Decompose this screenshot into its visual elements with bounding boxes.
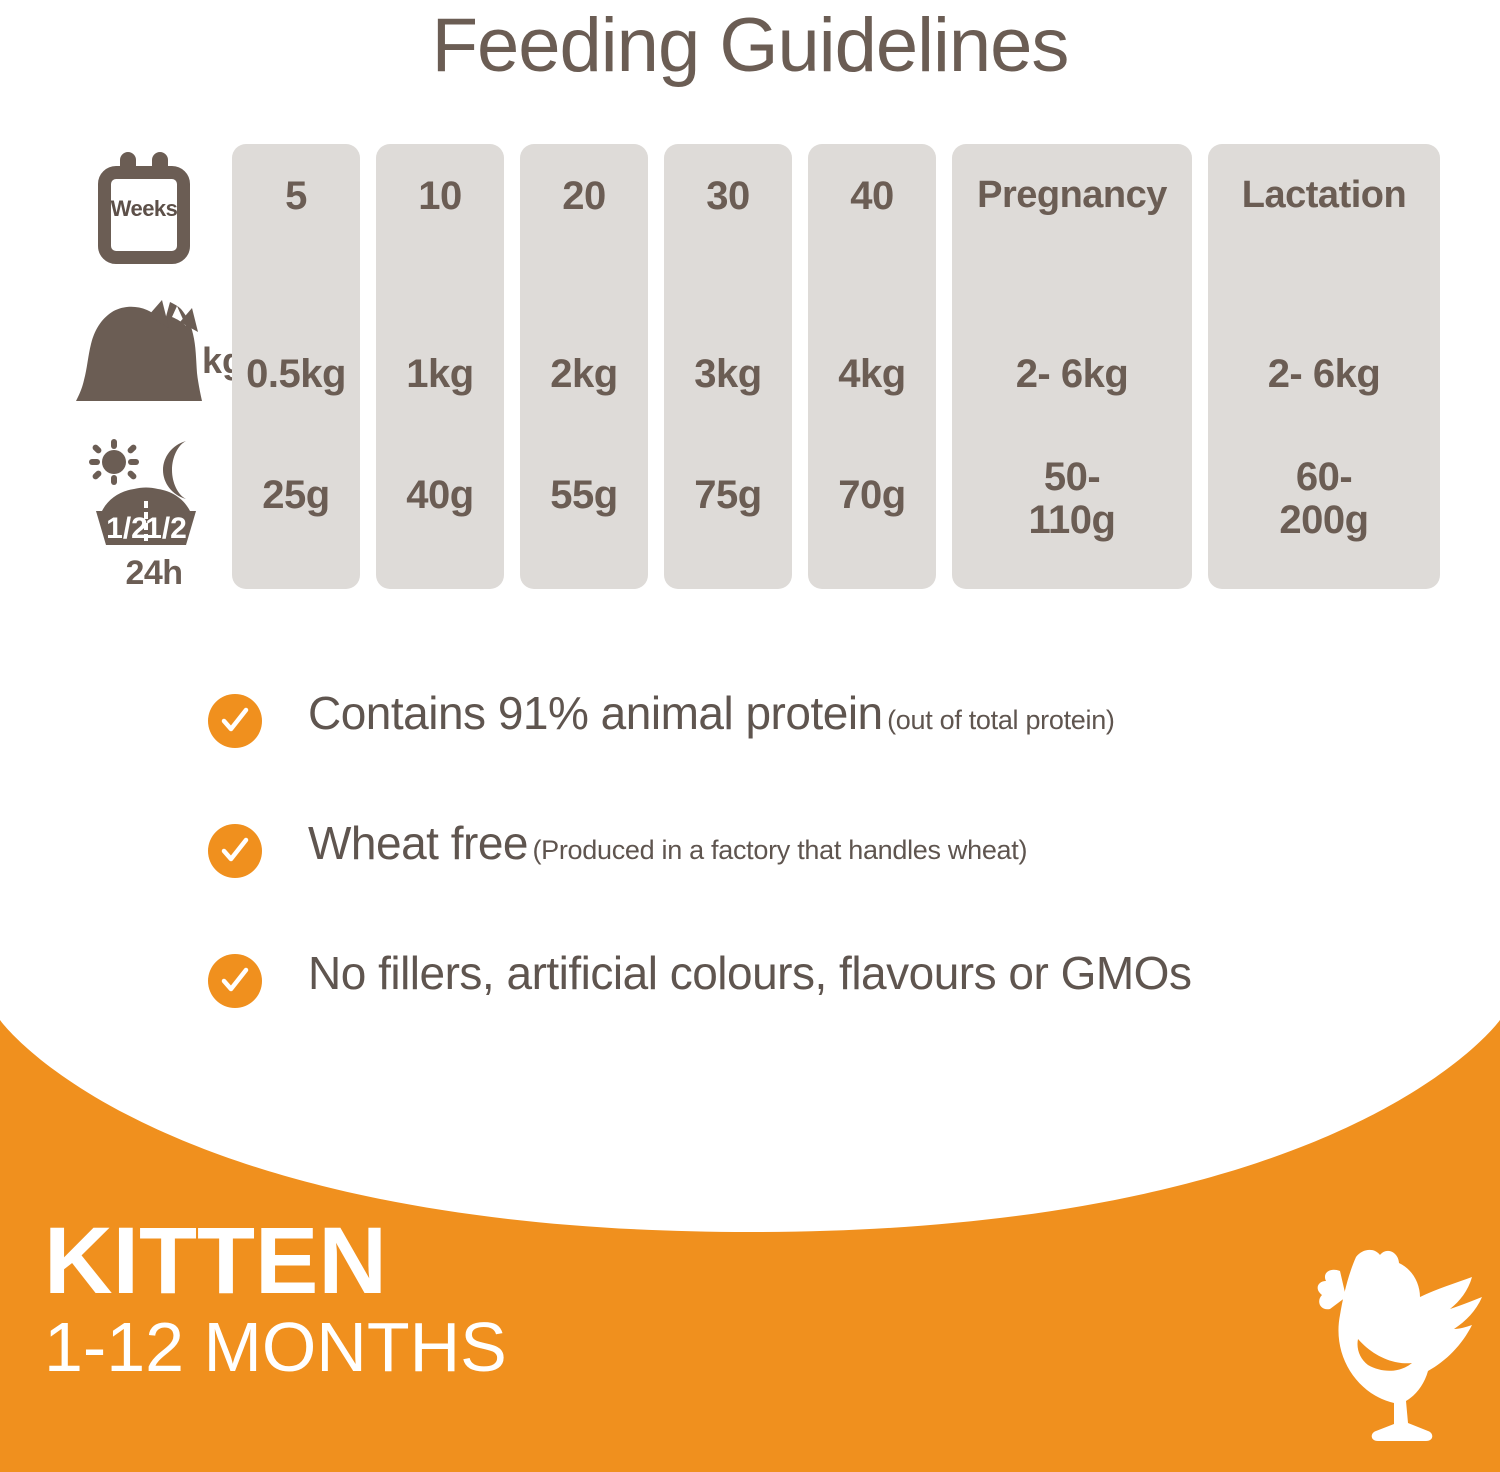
feature-bullet-main: Wheat free bbox=[308, 817, 528, 869]
24h-label: 24h bbox=[84, 554, 224, 593]
column-header: 30 bbox=[664, 176, 792, 216]
column-amount-value: 50- 110g bbox=[952, 456, 1192, 542]
column-header: Pregnancy bbox=[952, 176, 1192, 214]
moon-icon bbox=[163, 441, 186, 499]
svg-text:1/2: 1/2 bbox=[106, 512, 148, 545]
column-header: 40 bbox=[808, 176, 936, 216]
checkmark-icon bbox=[208, 694, 262, 748]
column-weight-value: 0.5kg bbox=[232, 354, 360, 394]
column-header: 20 bbox=[520, 176, 648, 216]
column-header: Lactation bbox=[1208, 176, 1440, 214]
column-weight-value: 1kg bbox=[376, 354, 504, 394]
table-column-20: 202kg55g bbox=[520, 144, 648, 589]
feature-bullet-text: Contains 91% animal protein (out of tota… bbox=[308, 686, 1115, 740]
table-column-40: 404kg70g bbox=[808, 144, 936, 589]
feature-bullet-text: Wheat free (Produced in a factory that h… bbox=[308, 816, 1027, 870]
column-header: 5 bbox=[232, 176, 360, 216]
row-label-column: Weeks kg bbox=[70, 144, 230, 594]
table-columns: 50.5kg25g101kg40g202kg55g303kg75g404kg70… bbox=[232, 144, 1440, 589]
weeks-label: Weeks bbox=[98, 196, 190, 222]
feeding-table: Weeks kg bbox=[70, 144, 1440, 594]
column-amount-value: 70g bbox=[808, 474, 936, 517]
column-weight-value: 3kg bbox=[664, 354, 792, 394]
lifestage-age-range: 1-12 MONTHS bbox=[44, 1311, 507, 1385]
column-weight-value: 4kg bbox=[808, 354, 936, 394]
checkmark-icon bbox=[208, 824, 262, 878]
sun-icon bbox=[89, 439, 139, 485]
feature-bullet: Wheat free (Produced in a factory that h… bbox=[208, 816, 1408, 946]
lifestage-text-block: KITTEN 1-12 MONTHS bbox=[44, 1218, 507, 1385]
chicken-icon bbox=[1300, 1235, 1490, 1455]
feature-bullet-list: Contains 91% animal protein (out of tota… bbox=[208, 686, 1408, 1076]
column-amount-value: 55g bbox=[520, 474, 648, 517]
feeding-guidelines-panel: Feeding Guidelines Weeks kg bbox=[0, 0, 1500, 1472]
calendar-icon: Weeks bbox=[98, 152, 190, 264]
table-column-30: 303kg75g bbox=[664, 144, 792, 589]
feature-bullet-text: No fillers, artificial colours, flavours… bbox=[308, 946, 1191, 1000]
lifestage-banner: KITTEN 1-12 MONTHS bbox=[0, 1020, 1500, 1472]
svg-text:1/2: 1/2 bbox=[145, 512, 187, 545]
column-weight-value: 2kg bbox=[520, 354, 648, 394]
table-column-5: 50.5kg25g bbox=[232, 144, 360, 589]
column-amount-value: 60- 200g bbox=[1208, 456, 1440, 542]
feature-bullet-main: No fillers, artificial colours, flavours… bbox=[308, 947, 1191, 999]
column-weight-value: 2- 6kg bbox=[1208, 354, 1440, 394]
column-weight-value: 2- 6kg bbox=[952, 354, 1192, 394]
column-amount-value: 75g bbox=[664, 474, 792, 517]
table-column-pregnancy: Pregnancy2- 6kg50- 110g bbox=[952, 144, 1192, 589]
feature-bullet-sub: (Produced in a factory that handles whea… bbox=[532, 835, 1027, 865]
table-column-lactation: Lactation2- 6kg60- 200g bbox=[1208, 144, 1440, 589]
feature-bullet: Contains 91% animal protein (out of tota… bbox=[208, 686, 1408, 816]
table-column-10: 101kg40g bbox=[376, 144, 504, 589]
column-amount-value: 40g bbox=[376, 474, 504, 517]
checkmark-icon bbox=[208, 954, 262, 1008]
page-title: Feeding Guidelines bbox=[0, 6, 1500, 86]
feature-bullet-sub: (out of total protein) bbox=[887, 705, 1115, 735]
cat-icon bbox=[74, 294, 204, 404]
feature-bullet-main: Contains 91% animal protein bbox=[308, 687, 883, 739]
lifestage-title: KITTEN bbox=[44, 1218, 507, 1305]
column-header: 10 bbox=[376, 176, 504, 216]
column-amount-value: 25g bbox=[232, 474, 360, 517]
